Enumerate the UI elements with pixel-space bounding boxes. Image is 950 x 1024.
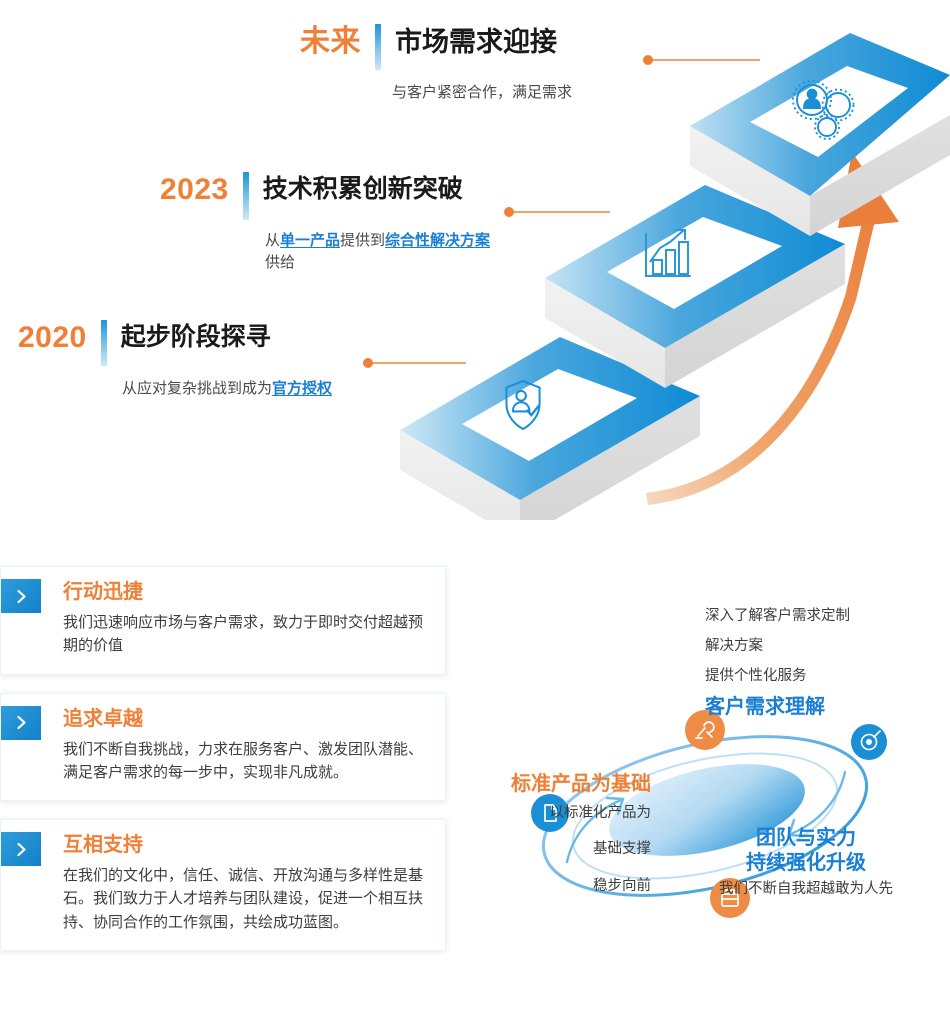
- timeline-description: 从应对复杂挑战到成为官方授权: [122, 378, 332, 400]
- orbit-sub-line: 以标准化产品为: [455, 803, 651, 825]
- timeline-year-label: 2023: [160, 172, 229, 205]
- chevron-glyph: [15, 589, 28, 604]
- value-card-title: 行动迅捷: [63, 581, 427, 603]
- orbit-title: 客户需求理解: [705, 695, 935, 720]
- chevron-glyph: [15, 842, 28, 857]
- chevron-right-icon: [1, 832, 41, 866]
- timeline-head: 未来 市场需求迎接: [300, 24, 572, 70]
- timeline-year-label: 未来: [300, 24, 361, 57]
- orbit-sub-line: 基础支撑: [455, 839, 651, 861]
- timeline-divider-bar: [375, 24, 381, 70]
- value-card-body: 我们迅速响应市场与客户需求，致力于即时交付超越预期的价值: [63, 611, 427, 658]
- orbit-label-standard-products: 标准产品为基础 以标准化产品为 基础支撑 稳步向前: [455, 772, 651, 912]
- orbit-title-line-1: 团队与实力: [681, 826, 931, 851]
- orbit-sub-line: 深入了解客户需求定制: [705, 606, 935, 628]
- infographic-page: 未来 市场需求迎接 与客户紧密合作，满足需求 2023 技术积累创新突破 从单一…: [0, 0, 950, 1024]
- growth-timeline: 未来 市场需求迎接 与客户紧密合作，满足需求 2023 技术积累创新突破 从单一…: [0, 0, 950, 520]
- timeline-divider-bar: [101, 320, 107, 366]
- value-card-support[interactable]: 互相支持 在我们的文化中，信任、诚信、开放沟通与多样性是基石。我们致力于人才培养…: [0, 819, 446, 951]
- timeline-desc-highlight-1[interactable]: 单一产品: [280, 232, 340, 249]
- value-card-action[interactable]: 行动迅捷 我们迅速响应市场与客户需求，致力于即时交付超越预期的价值: [0, 566, 446, 675]
- value-card-title: 互相支持: [63, 834, 427, 856]
- orbit-title: 标准产品为基础: [455, 772, 651, 797]
- timeline-head: 2020 起步阶段探寻: [18, 320, 332, 366]
- connector-future: [643, 55, 760, 65]
- orbit-label-team-strength: 团队与实力 持续强化升级 我们不断自我超越敢为人先: [681, 826, 931, 915]
- connector-2023: [504, 207, 610, 217]
- timeline-title: 起步阶段探寻: [121, 320, 271, 350]
- orbit-sub-line: 稳步向前: [455, 876, 651, 898]
- timeline-desc-suffix: 供给: [265, 254, 295, 271]
- timeline-desc-highlight-2[interactable]: 官方授权: [272, 380, 332, 397]
- timeline-divider-bar: [243, 172, 249, 220]
- timeline-title: 技术积累创新突破: [263, 172, 463, 202]
- orbit-sub-line: 提供个性化服务: [705, 666, 935, 688]
- timeline-desc-prefix: 从应对复杂挑战到成为: [122, 380, 272, 397]
- timeline-item-2023: 2023 技术积累创新突破 从单一产品提供到综合性解决方案供给: [160, 172, 497, 274]
- orbit-label-customer-needs: 深入了解客户需求定制 解决方案 提供个性化服务 客户需求理解: [705, 606, 935, 720]
- capability-orbit-diagram: 深入了解客户需求定制 解决方案 提供个性化服务 客户需求理解 标准产品为基础 以…: [455, 566, 950, 986]
- value-cards-list: 行动迅捷 我们迅速响应市场与客户需求，致力于即时交付超越预期的价值 追求卓越 我…: [0, 566, 446, 969]
- connector-2020: [363, 358, 466, 368]
- timeline-description: 与客户紧密合作，满足需求: [392, 82, 572, 104]
- value-card-body: 在我们的文化中，信任、诚信、开放沟通与多样性是基石。我们致力于人才培养与团队建设…: [63, 864, 427, 934]
- timeline-desc-mid: 提供到: [340, 232, 385, 249]
- timeline-item-future: 未来 市场需求迎接 与客户紧密合作，满足需求: [300, 24, 572, 104]
- orbit-sub-line: 我们不断自我超越敢为人先: [681, 879, 931, 901]
- chevron-right-icon: [1, 706, 41, 740]
- orbit-title-line-2: 持续强化升级: [681, 851, 931, 876]
- value-card-body: 我们不断自我挑战，力求在服务客户、激发团队潜能、满足客户需求的每一步中，实现非凡…: [63, 738, 427, 785]
- timeline-year-label: 2020: [18, 320, 87, 353]
- orbit-node-right[interactable]: [851, 724, 887, 760]
- value-card-excellence[interactable]: 追求卓越 我们不断自我挑战，力求在服务客户、激发团队潜能、满足客户需求的每一步中…: [0, 693, 446, 802]
- timeline-desc-prefix: 从: [265, 232, 280, 249]
- timeline-desc-highlight-2[interactable]: 综合性解决方案: [385, 232, 490, 249]
- timeline-desc-text: 与客户紧密合作，满足需求: [392, 84, 572, 101]
- chevron-glyph: [15, 715, 28, 730]
- timeline-title: 市场需求迎接: [395, 24, 557, 56]
- orbit-sub-line: 解决方案: [705, 636, 935, 658]
- timeline-description: 从单一产品提供到综合性解决方案供给: [265, 230, 497, 274]
- timeline-item-2020: 2020 起步阶段探寻 从应对复杂挑战到成为官方授权: [18, 320, 332, 400]
- chevron-right-icon: [1, 579, 41, 613]
- value-card-title: 追求卓越: [63, 708, 427, 730]
- timeline-head: 2023 技术积累创新突破: [160, 172, 497, 220]
